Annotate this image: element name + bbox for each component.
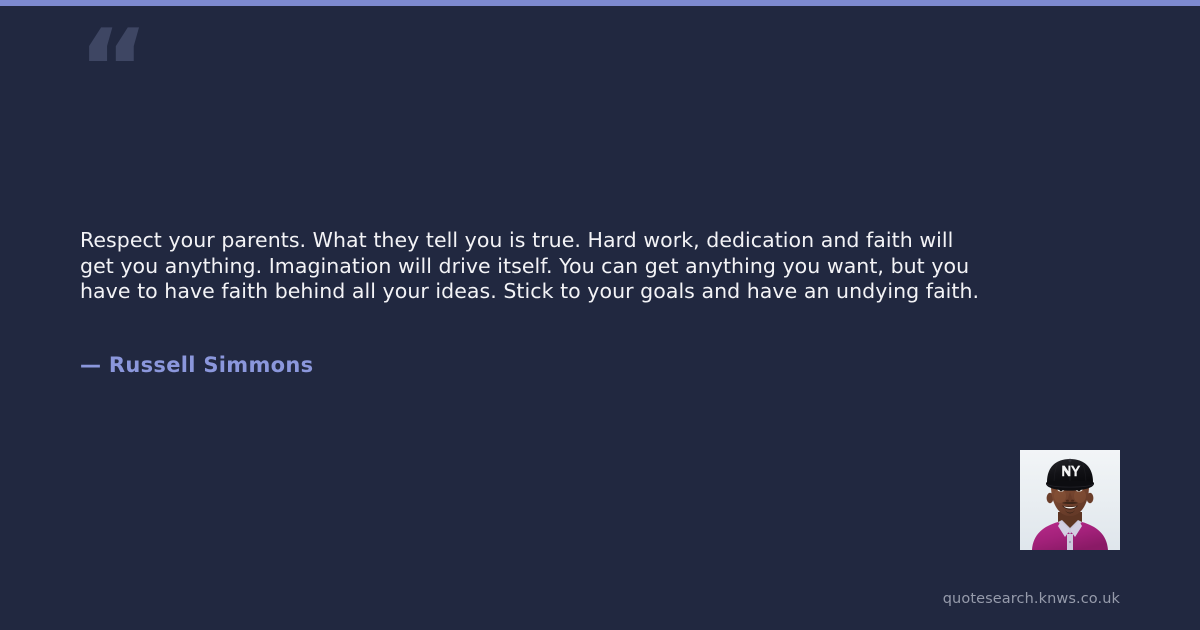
quote-text: Respect your parents. What they tell you… bbox=[80, 228, 980, 305]
quote-card: “ Respect your parents. What they tell y… bbox=[0, 0, 1200, 630]
quote-author: — Russell Simmons bbox=[80, 353, 313, 377]
opening-quote-icon: “ bbox=[78, 16, 147, 124]
author-portrait-image bbox=[1020, 450, 1120, 550]
top-accent-bar bbox=[0, 0, 1200, 6]
author-portrait bbox=[1020, 450, 1120, 550]
source-url[interactable]: quotesearch.knws.co.uk bbox=[943, 591, 1120, 607]
